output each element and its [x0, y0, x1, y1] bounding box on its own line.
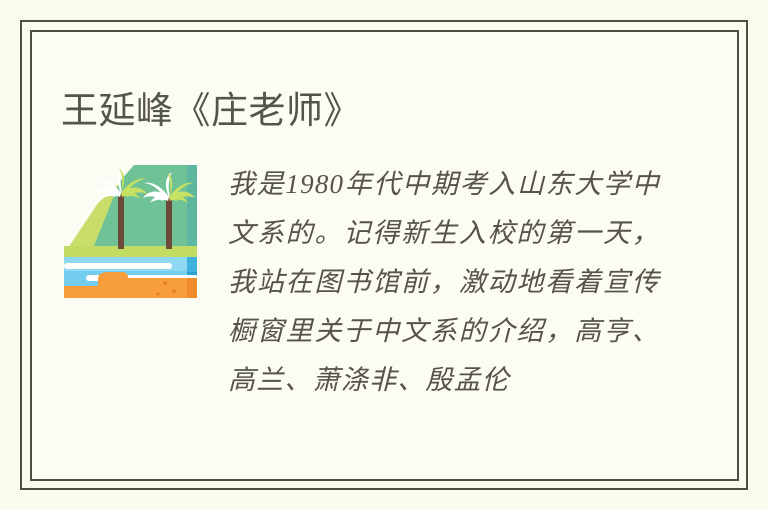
sand-shadow-strip [187, 278, 197, 298]
page-title: 王延峰《庄老师》 [61, 87, 361, 135]
page-root: 王延峰《庄老师》 [0, 0, 768, 510]
foam-line-1 [64, 263, 172, 269]
shore-grass-band [64, 246, 197, 257]
beach-island-graphic [62, 147, 208, 298]
sand-dot-3 [156, 292, 159, 295]
article-paragraph: 我是1980年代中期考入山东大学中文系的。记得新生入校的第一天，我站在图书馆前，… [228, 160, 660, 405]
palm-trunk-2 [166, 197, 172, 249]
article-body: 我是1980年代中期考入山东大学中文系的。记得新生入校的第一天，我站在图书馆前，… [228, 160, 660, 405]
sand-dot-1 [163, 281, 167, 285]
water-dark-strip-top [187, 257, 197, 272]
palm-trunk-1 [118, 193, 124, 249]
beach-island-illustration [62, 147, 208, 298]
hill-shadow-strip [187, 165, 197, 251]
sand-dot-2 [172, 289, 176, 293]
